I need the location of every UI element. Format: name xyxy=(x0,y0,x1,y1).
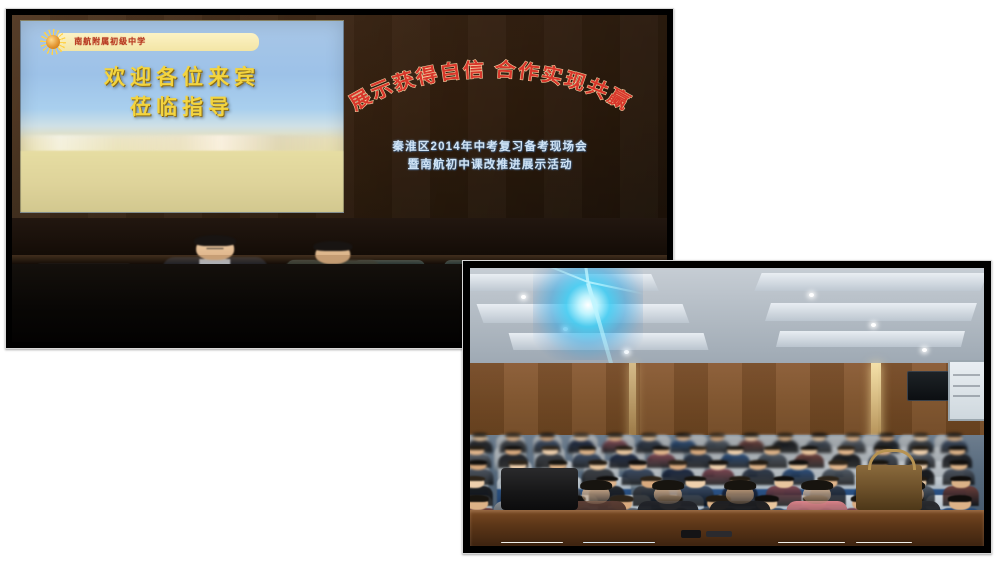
person-hair xyxy=(641,433,657,437)
wall-slogan-text: 展示获得自信 合作实现共赢 xyxy=(346,58,636,115)
person-hair xyxy=(508,460,527,465)
downlight-icon xyxy=(563,327,568,331)
laptop-bag xyxy=(501,468,578,510)
ceiling-panel xyxy=(477,304,690,323)
person-hair xyxy=(950,476,972,482)
slide-headline: 欢迎各位来宾 莅临指导 xyxy=(21,63,343,123)
person-hair xyxy=(652,480,684,490)
person-hair xyxy=(578,446,596,450)
desk-device xyxy=(706,531,732,537)
slide-headline-line-1: 欢迎各位来宾 xyxy=(21,63,343,93)
person-hair xyxy=(504,446,522,450)
person-hair xyxy=(749,460,768,465)
person-hair xyxy=(709,433,725,437)
person-hair xyxy=(913,433,929,437)
person-hair xyxy=(829,460,848,465)
person-hair xyxy=(548,460,567,465)
person-hair xyxy=(668,460,687,465)
school-name-banner: 南航附属初级中学 xyxy=(40,29,259,54)
person-hair xyxy=(541,446,559,450)
downlight-icon xyxy=(809,293,814,297)
person-hair xyxy=(763,446,781,450)
person-hair xyxy=(743,433,759,437)
person-hair xyxy=(724,480,756,490)
person-hair xyxy=(948,446,966,450)
person-hair xyxy=(708,460,727,465)
person-hair xyxy=(588,460,607,465)
desk-papers xyxy=(501,542,563,544)
school-banner-pill: 南航附属初级中学 xyxy=(58,33,259,51)
person-hair xyxy=(470,495,489,502)
person-hair xyxy=(726,446,744,450)
sun-icon xyxy=(40,29,66,55)
person-hair xyxy=(607,433,623,437)
desk-papers xyxy=(778,542,845,544)
slide-headline-line-2: 莅临指导 xyxy=(21,93,343,123)
wall-subtitle-line-1: 秦淮区2014年中考复习备考现场会 xyxy=(326,139,654,157)
person-hair xyxy=(789,460,808,465)
audience-photo[interactable] xyxy=(462,260,992,554)
downlight-icon xyxy=(922,348,927,352)
person-hair xyxy=(313,241,352,251)
downlight-icon xyxy=(871,323,876,327)
ceiling-panel xyxy=(754,273,984,291)
mobile-phone xyxy=(681,530,702,538)
desk-notebook xyxy=(583,542,655,544)
person-hair xyxy=(689,446,707,450)
school-name-text: 南航附属初级中学 xyxy=(74,36,146,47)
person-hair xyxy=(194,235,236,247)
collage-canvas: 南航附属初级中学 欢迎各位来宾 莅临指导 展示获得自信 合作实现共赢 xyxy=(0,0,1000,562)
ceiling-panel xyxy=(776,331,965,347)
person-hair xyxy=(845,433,861,437)
projection-screen: 南航附属初级中学 欢迎各位来宾 莅临指导 xyxy=(20,20,344,213)
person-hair xyxy=(879,433,895,437)
ceiling-panel xyxy=(765,303,976,321)
person-hair xyxy=(470,476,485,482)
slide-field xyxy=(21,151,343,212)
person-hair xyxy=(948,495,972,502)
downlight-icon xyxy=(624,350,629,354)
person-hair xyxy=(539,433,555,437)
person-hair xyxy=(811,433,827,437)
ceiling-panel xyxy=(509,333,709,350)
person-hair xyxy=(949,460,968,465)
person-hair xyxy=(628,460,647,465)
handbag xyxy=(856,465,923,509)
person-hair xyxy=(837,446,855,450)
person-hair xyxy=(580,480,612,490)
notice-board xyxy=(948,360,984,421)
person-hair xyxy=(777,433,793,437)
ceiling-panel xyxy=(470,274,659,291)
person-hair xyxy=(801,480,833,490)
person-hair xyxy=(472,433,488,437)
wall-subtitle-line-2: 暨南航初中课改推进展示活动 xyxy=(326,157,654,175)
wall-slogan-arch: 展示获得自信 合作实现共赢 xyxy=(320,31,661,142)
auditorium-ceiling xyxy=(470,268,984,374)
person-hair xyxy=(652,446,670,450)
downlight-icon xyxy=(521,295,526,299)
wall-subtitle: 秦淮区2014年中考复习备考现场会 暨南航初中课改推进展示活动 xyxy=(326,139,654,175)
front-desk xyxy=(470,510,984,546)
person-hair xyxy=(573,433,589,437)
person-hair xyxy=(506,433,522,437)
person-hair xyxy=(470,460,487,465)
slide-horizon xyxy=(21,135,343,150)
person-hair xyxy=(947,433,963,437)
person-hair xyxy=(800,446,818,450)
person-hair xyxy=(911,446,929,450)
audience-photo-content xyxy=(470,268,984,546)
desk-papers xyxy=(856,542,913,544)
person-hair xyxy=(470,446,485,450)
glasses-icon xyxy=(207,248,224,251)
person-hair xyxy=(615,446,633,450)
wall-light-strip xyxy=(629,363,636,446)
person-hair xyxy=(675,433,691,437)
